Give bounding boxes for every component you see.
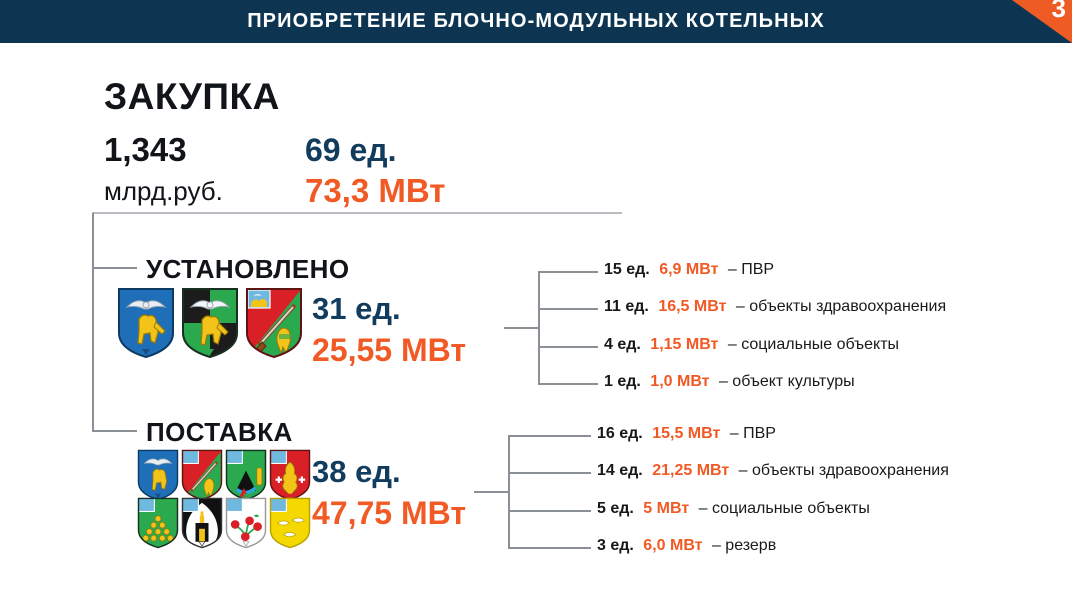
purchase-power: 73,3 МВт [305,172,445,210]
installed-bracket-branch-2 [538,308,598,310]
row-power: 1,0 МВт [650,373,709,390]
page-title: ПРИОБРЕТЕНИЕ БЛОЧНО-МОДУЛЬНЫХ КОТЕЛЬНЫХ [0,0,1072,43]
purchase-amount: 1,343 [104,131,187,169]
delivery-bracket-branch-4 [508,547,591,549]
delivery-power: 47,75 МВт [312,495,466,532]
row-desc: – социальные объекты [699,500,870,517]
emblem-coa-belgorod-city [181,287,239,359]
row-power: 5 МВт [643,500,689,517]
row-power: 21,25 МВт [652,462,729,479]
row-qty: 16 ед. [597,425,643,442]
row-qty: 1 ед. [604,373,641,390]
installed-breakdown-row: 4 ед. 1,15 МВт – социальные объекты [604,336,899,354]
left-bracket-branch-delivery [92,430,137,432]
emblem-coa-grayvoronsky [225,449,267,501]
row-qty: 15 ед. [604,261,650,278]
delivery-bracket-branch-1 [508,435,591,437]
delivery-breakdown-row: 14 ед. 21,25 МВт – объекты здравоохранен… [597,462,949,480]
delivery-bracket-branch-3 [508,510,591,512]
row-desc: – объекты здравоохранения [736,298,946,315]
emblem-coa-chernyansky [181,497,223,549]
row-desc: – ПВР [728,261,774,278]
row-power: 16,5 МВт [658,298,726,315]
left-bracket-branch-installed [92,267,137,269]
row-qty: 5 ед. [597,500,634,517]
delivery-bracket-branch-2 [508,472,591,474]
row-power: 1,15 МВт [650,336,718,353]
installed-breakdown-row: 1 ед. 1,0 МВт – объект культуры [604,373,855,391]
purchase-divider [92,212,622,214]
purchase-label: ЗАКУПКА [104,76,280,118]
row-qty: 11 ед. [604,298,649,315]
installed-bracket-branch-1 [538,271,598,273]
row-desc: – социальные объекты [728,336,899,353]
installed-bracket-branch-3 [538,346,598,348]
installed-breakdown-row: 11 ед. 16,5 МВт – объекты здравоохранени… [604,298,946,316]
row-desc: – ПВР [730,425,776,442]
slide-number-badge: 3 [1006,0,1072,43]
delivery-breakdown-row: 5 ед. 5 МВт – социальные объекты [597,500,870,518]
row-qty: 4 ед. [604,336,641,353]
row-power: 6,9 МВт [659,261,718,278]
delivery-breakdown-row: 3 ед. 6,0 МВт – резерв [597,537,776,555]
row-power: 6,0 МВт [643,537,702,554]
row-qty: 3 ед. [597,537,634,554]
installed-breakdown-row: 15 ед. 6,9 МВт – ПВР [604,261,774,279]
header-bar: ПРИОБРЕТЕНИЕ БЛОЧНО-МОДУЛЬНЫХ КОТЕЛЬНЫХ … [0,0,1072,43]
row-desc: – объект культуры [719,373,855,390]
purchase-units: 69 ед. [305,132,396,169]
slide-number: 3 [1052,0,1066,24]
slide-root: ПРИОБРЕТЕНИЕ БЛОЧНО-МОДУЛЬНЫХ КОТЕЛЬНЫХ … [0,0,1072,594]
delivery-bracket-stem [474,491,510,493]
emblem-coa-shebekinsky [245,287,303,359]
emblem-coa-belgorod-oblast [137,449,179,501]
emblem-coa-valuysky [269,449,311,501]
row-power: 15,5 МВт [652,425,720,442]
installed-units: 31 ед. [312,291,401,327]
purchase-amount-unit: млрд.руб. [104,176,223,207]
delivery-breakdown-row: 16 ед. 15,5 МВт – ПВР [597,425,776,443]
emblem-coa-korochansky [225,497,267,549]
emblem-coa-shebekinsky [181,449,223,501]
row-desc: – резерв [712,537,776,554]
installed-label: УСТАНОВЛЕНО [146,254,349,285]
emblem-coa-rovenskoy [269,497,311,549]
installed-bracket-branch-4 [538,383,598,385]
left-bracket-spine [92,213,94,431]
row-desc: – объекты здравоохранения [739,462,949,479]
installed-power: 25,55 МВт [312,332,466,369]
delivery-label: ПОСТАВКА [146,417,293,448]
installed-bracket-stem [504,327,540,329]
row-qty: 14 ед. [597,462,643,479]
delivery-units: 38 ед. [312,454,401,490]
emblem-coa-belgorod-oblast [117,287,175,359]
emblem-coa-krasnogvardeysky [137,497,179,549]
